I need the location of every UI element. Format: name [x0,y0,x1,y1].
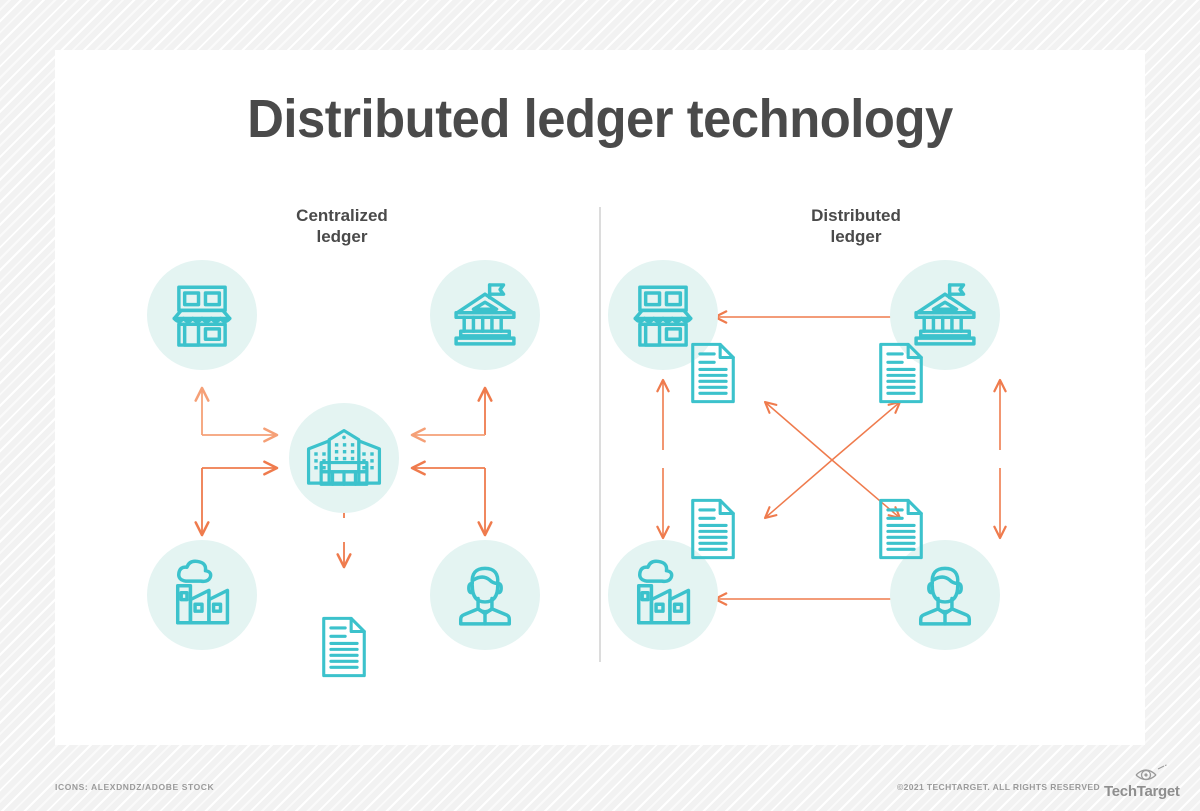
centralized-hub-authority[interactable] [289,403,399,513]
office-buildings-icon [304,418,384,498]
document-icon [320,616,368,678]
eye-icon [1134,764,1178,782]
distributed-ledger-factory[interactable] [689,498,737,560]
techtarget-logo[interactable]: TechTarget [1104,764,1190,800]
centralized-node-store[interactable] [147,260,257,370]
storefront-icon [165,278,239,352]
icon-credit: ICONS: ALEXDNDZ/ADOBE STOCK [55,782,214,792]
diagram-nodes-layer [55,50,1145,745]
bank-icon [448,278,522,352]
person-icon [908,558,982,632]
centralized-node-bank[interactable] [430,260,540,370]
distributed-ledger-person[interactable] [877,498,925,560]
storefront-icon [626,278,700,352]
document-icon [689,498,737,560]
centralized-node-factory[interactable] [147,540,257,650]
factory-icon [626,558,700,632]
centralized-ledger-document[interactable] [320,616,368,678]
diagram-card: Distributed ledger technology Centralize… [55,50,1145,745]
centralized-node-person[interactable] [430,540,540,650]
techtarget-wordmark: TechTarget [1104,783,1180,800]
document-icon [877,342,925,404]
bank-icon [908,278,982,352]
document-icon [877,498,925,560]
document-icon [689,342,737,404]
person-icon [448,558,522,632]
distributed-ledger-bank[interactable] [877,342,925,404]
factory-icon [165,558,239,632]
distributed-ledger-store[interactable] [689,342,737,404]
copyright-notice: ©2021 TECHTARGET. ALL RIGHTS RESERVED [897,782,1100,792]
